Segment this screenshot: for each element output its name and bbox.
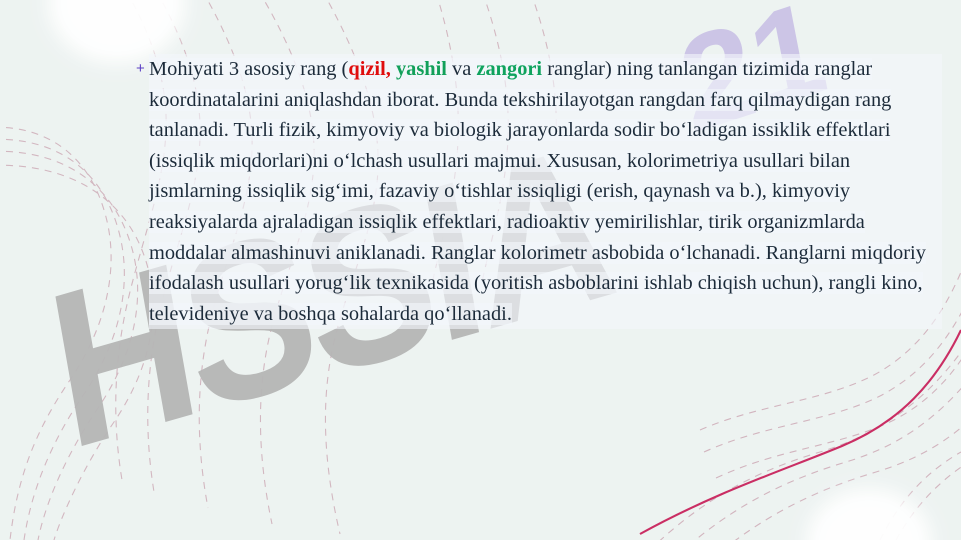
plus-bullet-icon: + [136, 54, 148, 85]
keyword-yashil: yashil [396, 58, 447, 80]
body-paragraph: Mohiyati 3 asosiy rang (qizil, yashil va… [149, 54, 942, 329]
keyword-qizil: qizil, [348, 58, 390, 80]
body-text-segment-3: ranglar) ning tanlangan tizimida ranglar… [149, 58, 926, 325]
slide-canvas: HSSIA 21 + Mohiyati 3 asosiy rang (qizil… [0, 0, 961, 540]
body-text-segment-2: va [447, 58, 476, 80]
bullet-row: + Mohiyati 3 asosiy rang (qizil, yashil … [136, 54, 942, 329]
body-text-segment-1: Mohiyati 3 asosiy rang ( [149, 58, 348, 80]
content-block: + Mohiyati 3 asosiy rang (qizil, yashil … [136, 54, 942, 329]
blob-bottom-right [806, 488, 932, 540]
keyword-zangori: zangori [476, 58, 542, 80]
